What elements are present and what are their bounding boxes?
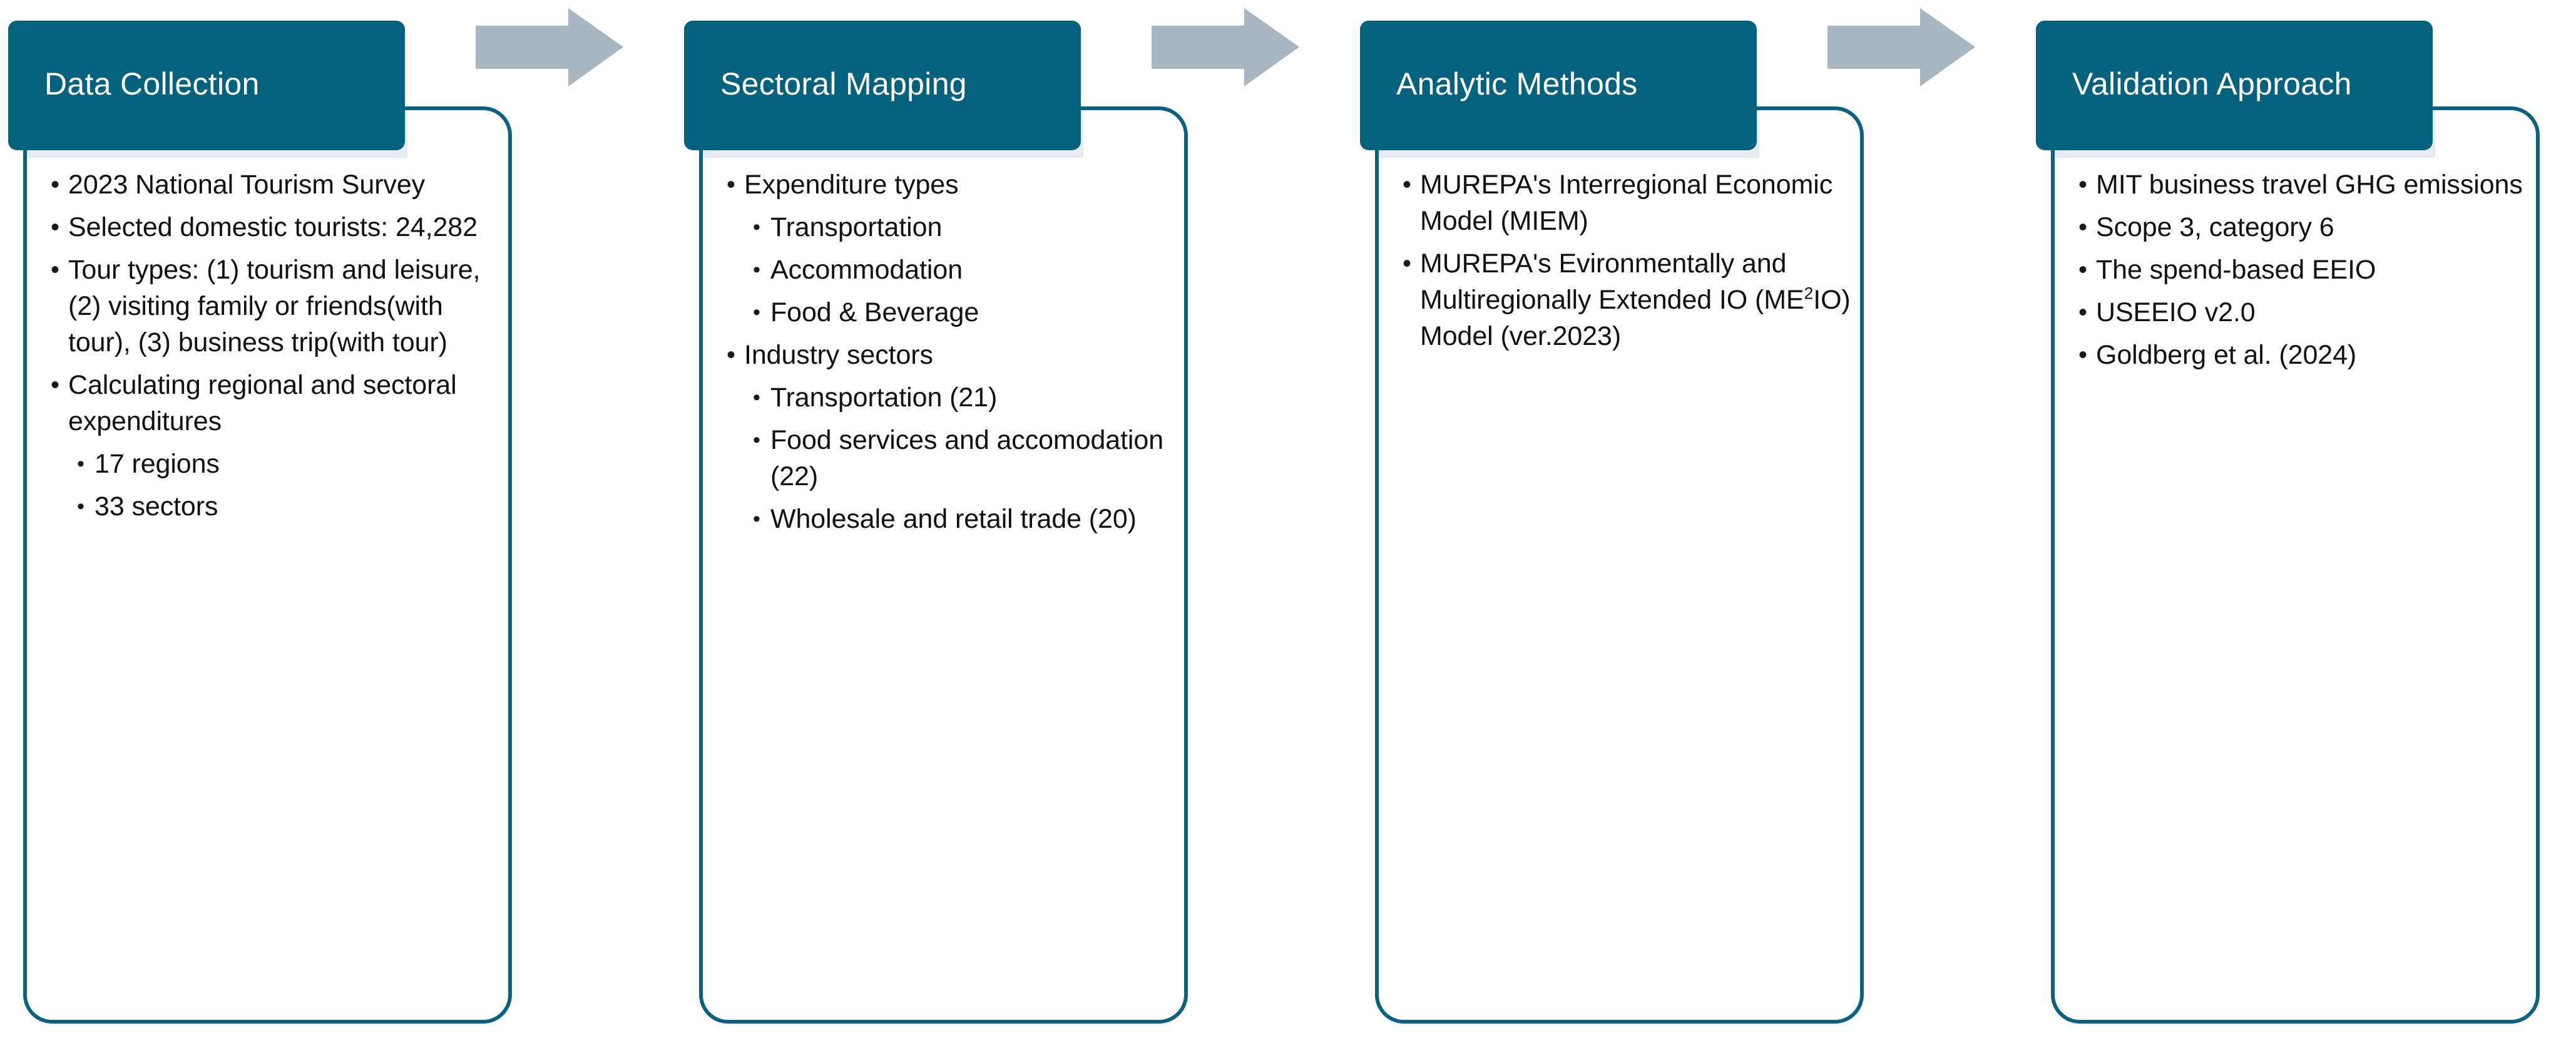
bullet-list-analytic-methods: •MUREPA's Interregional Economic Model (… [1379, 158, 1864, 361]
card-title: Sectoral Mapping [684, 66, 967, 106]
bullet-item: •Scope 3, category 6 [2078, 209, 2527, 245]
bullet-dot-icon: • [51, 252, 68, 288]
bullet-item: •33 sectors [51, 488, 499, 525]
bullet-text: Selected domestic tourists: 24,282 [68, 209, 499, 245]
card-header-data-collection[interactable]: Data Collection [8, 21, 405, 150]
card-body-data-collection: •2023 National Tourism Survey•Selected d… [23, 106, 512, 1024]
stage-column-sectoral-mapping: •Expenditure types•Transportation•Accomm… [684, 0, 1211, 1048]
bullet-text: Transportation (21) [770, 379, 1175, 416]
stage-column-analytic-methods: •MUREPA's Interregional Economic Model (… [1360, 0, 1887, 1048]
card-body-validation-approach: •MIT business travel GHG emissions•Scope… [2051, 106, 2540, 1024]
bullet-dot-icon: • [2078, 252, 2096, 288]
bullet-text: Expenditure types [744, 167, 1175, 203]
bullet-text: USEEIO v2.0 [2096, 294, 2527, 331]
card-title: Analytic Methods [1360, 66, 1638, 106]
bullet-text: Tour types: (1) tourism and leisure, (2)… [68, 252, 499, 361]
bullet-text: Accommodation [770, 252, 1175, 288]
bullet-dot-icon: • [2078, 337, 2096, 373]
bullet-item: •MIT business travel GHG emissions [2078, 167, 2527, 203]
bullet-list-sectoral-mapping: •Expenditure types•Transportation•Accomm… [703, 158, 1188, 543]
bullet-item: •2023 National Tourism Survey [51, 167, 499, 203]
bullet-item: •MUREPA's Interregional Economic Model (… [1403, 167, 1851, 239]
bullet-text: MIT business travel GHG emissions [2096, 167, 2527, 203]
bullet-item: •Selected domestic tourists: 24,282 [51, 209, 499, 245]
bullet-dot-icon: • [77, 488, 95, 525]
card-header-sectoral-mapping[interactable]: Sectoral Mapping [684, 21, 1081, 150]
bullet-item: •Transportation [727, 209, 1175, 245]
bullet-dot-icon: • [2078, 294, 2096, 331]
bullet-text: MUREPA's Evironmentally and Multiregiona… [1420, 245, 1851, 354]
bullet-dot-icon: • [753, 422, 770, 458]
bullet-item: •Transportation (21) [727, 379, 1175, 416]
bullet-text: Goldberg et al. (2024) [2096, 337, 2527, 373]
card-header-analytic-methods[interactable]: Analytic Methods [1360, 21, 1757, 150]
card-title: Data Collection [8, 66, 260, 106]
card-body-analytic-methods: •MUREPA's Interregional Economic Model (… [1375, 106, 1864, 1024]
bullet-dot-icon: • [753, 294, 770, 331]
stage-column-validation-approach: •MIT business travel GHG emissions•Scope… [2036, 0, 2563, 1048]
bullet-dot-icon: • [753, 252, 770, 288]
bullet-text: 17 regions [95, 446, 499, 482]
bullet-item: •USEEIO v2.0 [2078, 294, 2527, 331]
bullet-text: Industry sectors [744, 337, 1175, 373]
bullet-dot-icon: • [51, 167, 68, 203]
bullet-dot-icon: • [753, 209, 770, 245]
bullet-dot-icon: • [727, 337, 744, 373]
bullet-item: •Tour types: (1) tourism and leisure, (2… [51, 252, 499, 361]
bullet-item: •Expenditure types [727, 167, 1175, 203]
card-body-sectoral-mapping: •Expenditure types•Transportation•Accomm… [699, 106, 1188, 1024]
bullet-text: Food & Beverage [770, 294, 1175, 331]
bullet-item: •17 regions [51, 446, 499, 482]
bullet-item: •The spend-based EEIO [2078, 252, 2527, 288]
process-flow-diagram: •2023 National Tourism Survey•Selected d… [0, 0, 2576, 1048]
bullet-dot-icon: • [1403, 245, 1420, 282]
bullet-list-validation-approach: •MIT business travel GHG emissions•Scope… [2055, 158, 2540, 379]
card-title: Validation Approach [2036, 66, 2352, 106]
bullet-dot-icon: • [2078, 167, 2096, 203]
bullet-text: Food services and accomodation (22) [770, 422, 1175, 495]
bullet-item: •Wholesale and retail trade (20) [727, 501, 1175, 537]
bullet-dot-icon: • [1403, 167, 1420, 203]
bullet-item: •Food & Beverage [727, 294, 1175, 331]
card-header-validation-approach[interactable]: Validation Approach [2036, 21, 2433, 150]
bullet-text: 2023 National Tourism Survey [68, 167, 499, 203]
bullet-text: Transportation [770, 209, 1175, 245]
bullet-item: •Industry sectors [727, 337, 1175, 373]
bullet-text: MUREPA's Interregional Economic Model (M… [1420, 167, 1851, 239]
bullet-item: •Food services and accomodation (22) [727, 422, 1175, 495]
bullet-item: •Calculating regional and sectoral expen… [51, 367, 499, 439]
bullet-dot-icon: • [753, 379, 770, 416]
bullet-text: Wholesale and retail trade (20) [770, 501, 1175, 537]
bullet-text: The spend-based EEIO [2096, 252, 2527, 288]
bullet-dot-icon: • [77, 446, 95, 482]
bullet-item: •Goldberg et al. (2024) [2078, 337, 2527, 373]
stage-column-data-collection: •2023 National Tourism Survey•Selected d… [8, 0, 535, 1048]
bullet-dot-icon: • [51, 367, 68, 403]
bullet-list-data-collection: •2023 National Tourism Survey•Selected d… [27, 158, 512, 531]
bullet-item: •Accommodation [727, 252, 1175, 288]
bullet-item: •MUREPA's Evironmentally and Multiregion… [1403, 245, 1851, 354]
bullet-dot-icon: • [2078, 209, 2096, 245]
bullet-dot-icon: • [753, 501, 770, 537]
bullet-text: Calculating regional and sectoral expend… [68, 367, 499, 439]
bullet-text: 33 sectors [95, 488, 499, 525]
bullet-dot-icon: • [727, 167, 744, 203]
bullet-text: Scope 3, category 6 [2096, 209, 2527, 245]
bullet-dot-icon: • [51, 209, 68, 245]
